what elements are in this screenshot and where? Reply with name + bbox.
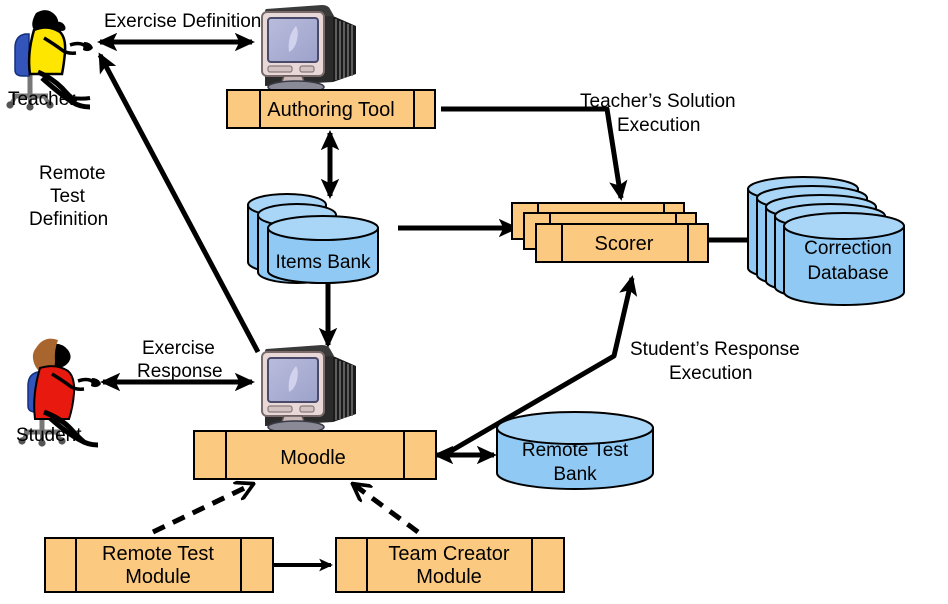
component-remote-test-module[interactable]: Remote Test Module xyxy=(45,538,273,592)
database-remote-test-bank-label-line1: Remote Test xyxy=(522,440,629,461)
database-items-bank-label: Items Bank xyxy=(275,252,371,273)
flow-label-students-response-execution-line2: Execution xyxy=(669,363,752,384)
component-remote-test-module-label-line2: Module xyxy=(125,566,191,588)
component-moodle[interactable]: Moodle xyxy=(194,431,436,479)
component-scorer-label: Scorer xyxy=(595,233,654,255)
student-label: Student xyxy=(16,425,82,446)
flow-label-teachers-solution-execution-line2: Execution xyxy=(617,115,700,136)
component-authoring-tool[interactable]: Authoring Tool xyxy=(227,90,435,128)
diagram-canvas: Moodle --> Moodle --> xyxy=(0,0,948,604)
flow-label-exercise-response-line1: Exercise xyxy=(142,338,215,359)
component-team-creator-module-label-line2: Module xyxy=(416,566,482,588)
flow-label-students-response-execution-line1: Student’s Response xyxy=(630,339,800,360)
component-team-creator-module-label-line1: Team Creator xyxy=(388,543,509,565)
flow-label-remote-test-definition-line3: Definition xyxy=(29,209,108,230)
component-moodle-label: Moodle xyxy=(280,447,346,469)
database-correction-database-label-line1: Correction xyxy=(804,238,892,259)
component-team-creator-module[interactable]: Team Creator Module xyxy=(336,538,564,592)
flow-label-exercise-response-line2: Response xyxy=(137,361,223,382)
flow-label-teachers-solution-execution-line1: Teacher’s Solution xyxy=(580,91,736,112)
teacher-label: Teacher xyxy=(8,89,76,110)
architecture-diagram: Moodle --> Moodle --> xyxy=(0,0,948,604)
flow-label-remote-test-definition-line1: Remote xyxy=(39,163,106,184)
component-authoring-tool-label: Authoring Tool xyxy=(267,99,395,121)
flow-label-exercise-definition-line1: Exercise Definition xyxy=(104,11,261,32)
component-remote-test-module-label-line1: Remote Test xyxy=(102,543,214,565)
database-correction-database-label-line2: Database xyxy=(807,263,888,284)
database-remote-test-bank-label-line2: Bank xyxy=(553,464,597,485)
database-remote-test-bank[interactable]: Remote Test Bank xyxy=(497,412,653,489)
component-scorer[interactable]: Scorer xyxy=(512,203,708,262)
flow-label-remote-test-definition-line2: Test xyxy=(50,186,86,207)
flow-label-exercise-definition: Exercise Definition xyxy=(104,11,261,32)
